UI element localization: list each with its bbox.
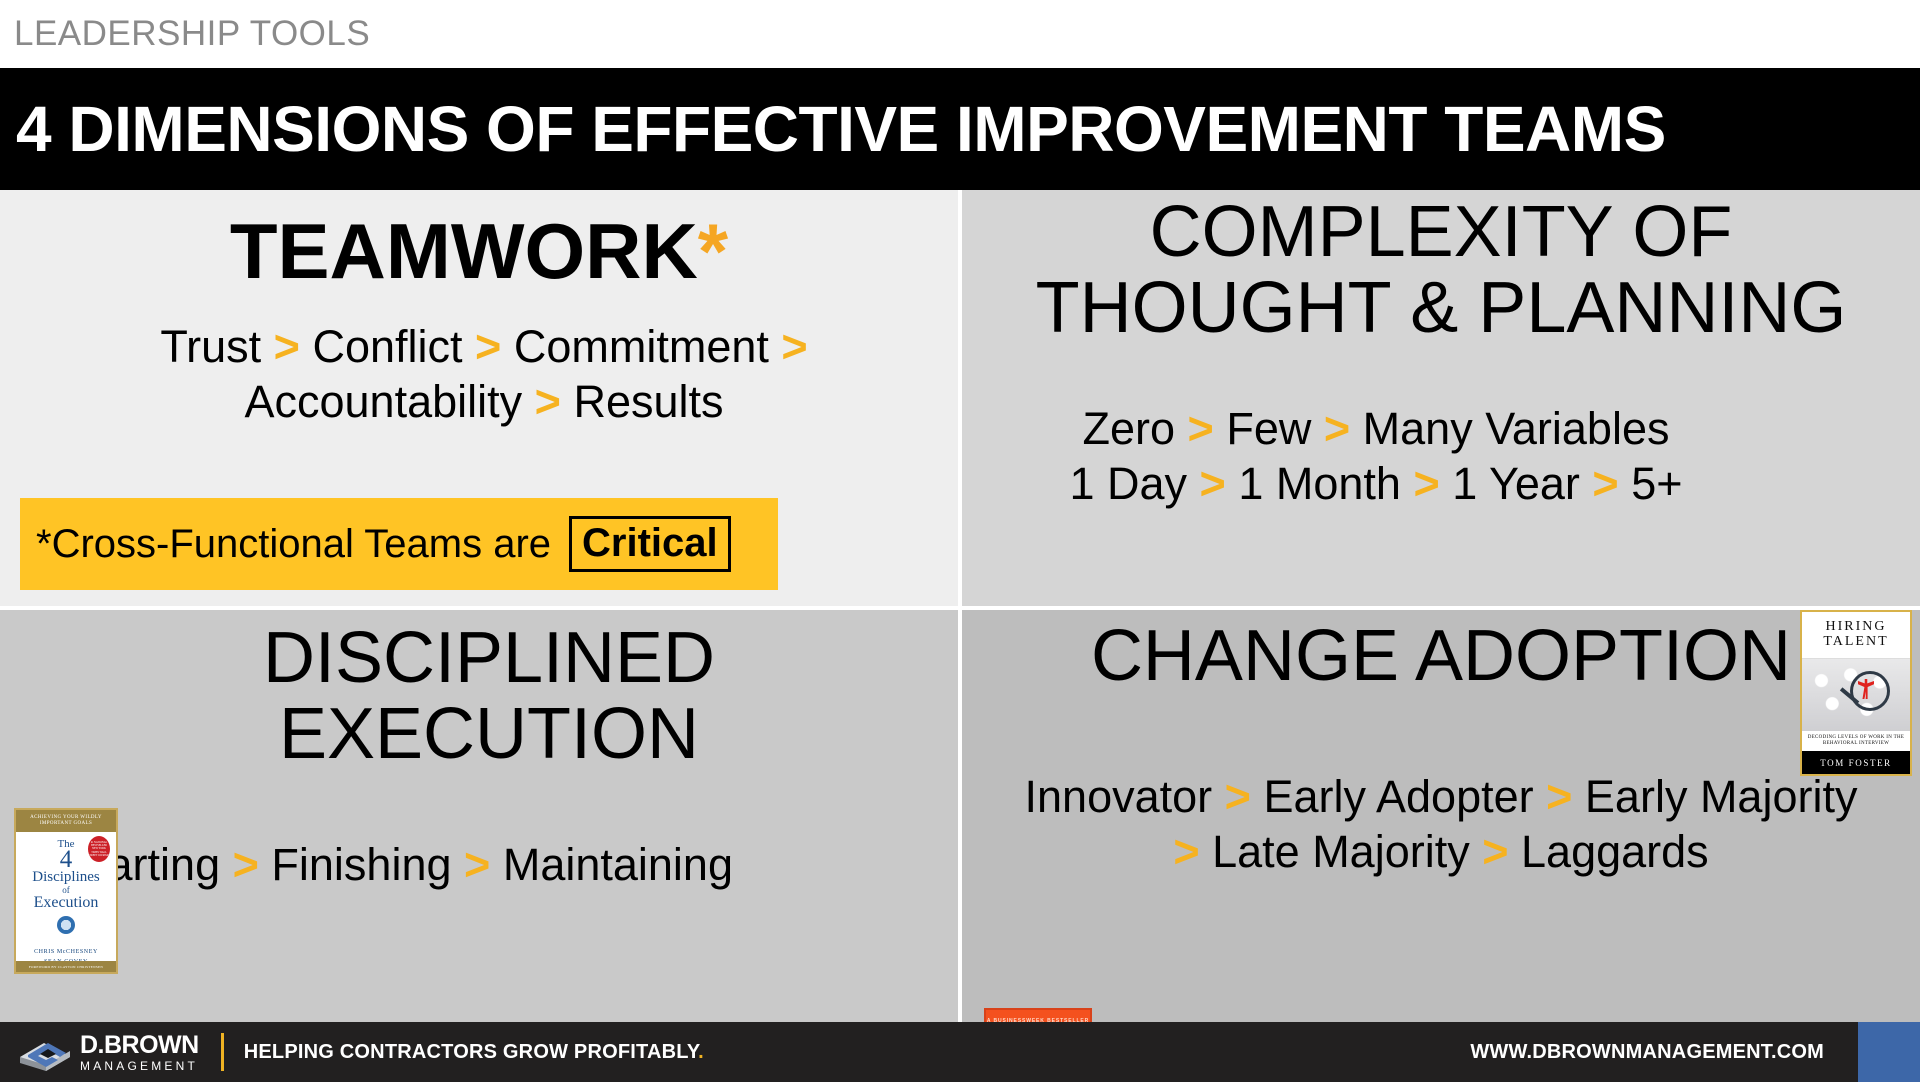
dbrown-wordmark: D.BROWN MANAGEMENT bbox=[80, 1033, 199, 1072]
footer-accent-block bbox=[1858, 1022, 1920, 1082]
teamwork-heading: TEAMWORK* bbox=[0, 210, 958, 293]
fourdx-author-3: JIM HULING bbox=[16, 972, 116, 974]
change-step-innovator: Innovator bbox=[1025, 771, 1213, 822]
footer-brand: D.BROWN MANAGEMENT HELPING CONTRACTORS G… bbox=[18, 1022, 704, 1082]
change-step-late-majority: Late Majority bbox=[1212, 826, 1470, 877]
dbrown-logo-icon bbox=[18, 1031, 72, 1073]
hiring-crowd-image bbox=[1802, 659, 1910, 731]
complexity-chain-row1: Zero > Few > Many Variables bbox=[962, 402, 1790, 457]
teamwork-callout-emphasis: Critical bbox=[569, 516, 731, 573]
teamwork-callout-text: *Cross-Functional Teams are bbox=[36, 522, 551, 567]
fourdx-title-disciplines: Disciplines bbox=[16, 870, 116, 885]
eyebrow-bar: LEADERSHIP TOOLS bbox=[0, 0, 1920, 68]
chevron-right-icon: > bbox=[1200, 458, 1226, 509]
teamwork-chain-row1: Trust > Conflict > Commitment > bbox=[40, 320, 928, 375]
complexity-step-zero: Zero bbox=[1083, 403, 1176, 454]
logo-subtitle: MANAGEMENT bbox=[80, 1060, 199, 1072]
chevron-right-icon: > bbox=[1592, 458, 1618, 509]
complexity-heading: COMPLEXITY OF THOUGHT & PLANNING bbox=[962, 194, 1920, 347]
chevron-right-icon: > bbox=[535, 376, 561, 427]
teamwork-step-commitment: Commitment bbox=[514, 321, 769, 372]
logo-name: D.BROWN bbox=[80, 1033, 199, 1058]
hiring-author: TOM FOSTER bbox=[1802, 751, 1910, 775]
quadrant-change-adoption: CHANGE ADOPTION Innovator > Early Adopte… bbox=[962, 610, 1920, 1022]
complexity-step-many: Many Variables bbox=[1363, 403, 1670, 454]
complexity-step-1day: 1 Day bbox=[1069, 458, 1187, 509]
complexity-step-1month: 1 Month bbox=[1238, 458, 1401, 509]
title-bar: 4 DIMENSIONS OF EFFECTIVE IMPROVEMENT TE… bbox=[0, 68, 1920, 190]
complexity-heading-line1: COMPLEXITY OF bbox=[962, 194, 1920, 270]
chevron-right-icon: > bbox=[1173, 826, 1199, 877]
teamwork-step-accountability: Accountability bbox=[244, 376, 522, 427]
execution-chain: Starting > Finishing > Maintaining bbox=[40, 838, 758, 893]
quadrant-complexity: COMPLEXITY OF THOUGHT & PLANNING Zero > … bbox=[962, 190, 1920, 606]
chevron-right-icon: > bbox=[1188, 403, 1214, 454]
hiring-subtitle: DECODING LEVELS OF WORK IN THE BEHAVIORA… bbox=[1802, 731, 1910, 751]
teamwork-chain: Trust > Conflict > Commitment > Accounta… bbox=[40, 320, 928, 430]
chevron-right-icon: > bbox=[1225, 771, 1251, 822]
teamwork-step-trust: Trust bbox=[160, 321, 261, 372]
teamwork-chain-row2: Accountability > Results bbox=[40, 375, 928, 430]
chevron-right-icon: > bbox=[1413, 458, 1439, 509]
change-chain-row2: > Late Majority > Laggards bbox=[982, 825, 1900, 880]
quadrant-teamwork: TEAMWORK* Trust > Conflict > Commitment … bbox=[0, 190, 958, 606]
page-title: 4 DIMENSIONS OF EFFECTIVE IMPROVEMENT TE… bbox=[16, 92, 1666, 166]
fourdx-foot-banner: FOREWORD BY CLAYTON CHRISTENSEN bbox=[16, 961, 116, 972]
quadrant-execution: DISCIPLINED EXECUTION Starting > Finishi… bbox=[0, 610, 958, 1022]
complexity-step-few: Few bbox=[1226, 403, 1311, 454]
teamwork-heading-asterisk: * bbox=[698, 207, 728, 295]
footer-tagline-dot: . bbox=[698, 1041, 704, 1063]
teamwork-step-results: Results bbox=[573, 376, 723, 427]
quadrant-grid: TEAMWORK* Trust > Conflict > Commitment … bbox=[0, 190, 1920, 1022]
complexity-chain: Zero > Few > Many Variables 1 Day > 1 Mo… bbox=[962, 402, 1790, 512]
chevron-right-icon: > bbox=[1482, 826, 1508, 877]
footer-tagline-text: HELPING CONTRACTORS GROW PROFITABLY bbox=[244, 1041, 698, 1063]
footer-bar: D.BROWN MANAGEMENT HELPING CONTRACTORS G… bbox=[0, 1022, 1920, 1082]
execution-heading: DISCIPLINED EXECUTION bbox=[60, 620, 918, 773]
complexity-step-1year: 1 Year bbox=[1452, 458, 1580, 509]
change-heading: CHANGE ADOPTION bbox=[962, 618, 1920, 694]
chevron-right-icon: > bbox=[464, 839, 490, 890]
fourdx-title-execution: Execution bbox=[16, 895, 116, 911]
footer-website-url: WWW.DBROWNMANAGEMENT.COM bbox=[1470, 1022, 1824, 1082]
fourdx-author-1: CHRIS McCHESNEY bbox=[16, 948, 116, 958]
chevron-right-icon: > bbox=[1324, 403, 1350, 454]
execution-heading-line1: DISCIPLINED bbox=[60, 620, 918, 696]
eyebrow-label: LEADERSHIP TOOLS bbox=[14, 14, 370, 54]
change-step-early-adopter: Early Adopter bbox=[1263, 771, 1533, 822]
book-cover-hiring-talent: HIRING TALENT DECODING LEVELS OF WORK IN… bbox=[1800, 610, 1912, 776]
execution-step-maintaining: Maintaining bbox=[503, 839, 733, 890]
chevron-right-icon: > bbox=[274, 321, 300, 372]
complexity-chain-row2: 1 Day > 1 Month > 1 Year > 5+ bbox=[962, 457, 1790, 512]
chevron-right-icon: > bbox=[781, 321, 807, 372]
chevron-right-icon: > bbox=[233, 839, 259, 890]
teamwork-callout: *Cross-Functional Teams are Critical bbox=[20, 498, 778, 590]
book-cover-four-disciplines: ACHIEVING YOUR WILDLY IMPORTANT GOALS #1… bbox=[14, 808, 118, 974]
change-step-laggards: Laggards bbox=[1521, 826, 1709, 877]
hiring-title-line1: HIRING bbox=[1826, 620, 1887, 635]
change-step-early-majority: Early Majority bbox=[1585, 771, 1858, 822]
footer-tagline: HELPING CONTRACTORS GROW PROFITABLY. bbox=[244, 1041, 704, 1064]
fourdx-bestseller-seal: #1 NATIONAL BESTSELLER NEW YORK TIMES WA… bbox=[88, 836, 110, 862]
change-chain: Innovator > Early Adopter > Early Majori… bbox=[982, 770, 1900, 880]
clock-icon bbox=[57, 916, 75, 934]
magnifier-icon bbox=[1850, 671, 1890, 711]
change-chain-row1: Innovator > Early Adopter > Early Majori… bbox=[982, 770, 1900, 825]
teamwork-heading-text: TEAMWORK bbox=[230, 207, 698, 295]
footer-divider bbox=[221, 1033, 224, 1071]
execution-step-finishing: Finishing bbox=[271, 839, 451, 890]
complexity-step-5plus: 5+ bbox=[1631, 458, 1682, 509]
chevron-right-icon: > bbox=[1546, 771, 1572, 822]
slide-root: LEADERSHIP TOOLS 4 DIMENSIONS OF EFFECTI… bbox=[0, 0, 1920, 1082]
hiring-title-line2: TALENT bbox=[1823, 635, 1888, 650]
chevron-right-icon: > bbox=[475, 321, 501, 372]
execution-heading-line2: EXECUTION bbox=[60, 696, 918, 772]
teamwork-step-conflict: Conflict bbox=[312, 321, 462, 372]
complexity-heading-line2: THOUGHT & PLANNING bbox=[962, 270, 1920, 346]
fourdx-top-banner: ACHIEVING YOUR WILDLY IMPORTANT GOALS bbox=[16, 810, 116, 832]
